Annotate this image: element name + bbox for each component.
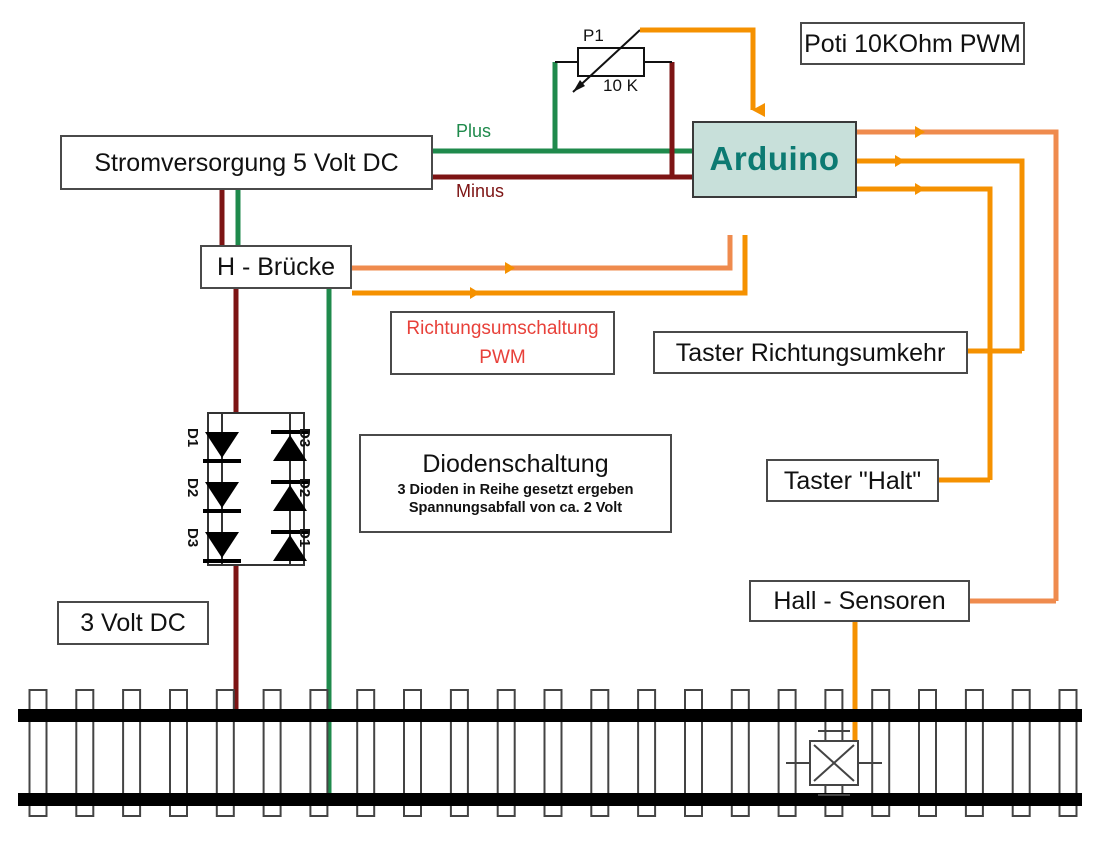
button-reverse-box[interactable]: Taster Richtungsumkehr [653,331,968,374]
diode-label-right-1: D3 [296,428,313,447]
button-reverse-label: Taster Richtungsumkehr [676,339,946,367]
button-halt-box[interactable]: Taster "Halt" [766,459,939,502]
diode-label-right-3: D1 [296,528,313,547]
rail-lower [18,793,1082,806]
power-supply-label: Stromversorgung 5 Volt DC [94,149,398,177]
diode-label-left-1: D1 [184,428,201,447]
h-bridge-box[interactable]: H - Brücke [200,245,352,289]
potentiometer-designator-label: P1 [583,26,604,46]
poti-note-box: Poti 10KOhm PWM [800,22,1025,65]
diode-note-line1: 3 Dioden in Reihe gesetzt ergeben [397,481,633,499]
diode-note-box: Diodenschaltung 3 Dioden in Reihe gesetz… [359,434,672,533]
button-sensor-stubs [855,351,1056,745]
power-supply-box[interactable]: Stromversorgung 5 Volt DC [60,135,433,190]
hall-sensors-box[interactable]: Hall - Sensoren [749,580,970,622]
poti-note-label: Poti 10KOhm PWM [804,30,1021,58]
plus-wire-label: Plus [456,121,491,142]
diode-label-right-2: D2 [296,478,313,497]
track-voltage-label: 3 Volt DC [80,609,186,637]
direction-note-line2: PWM [479,343,525,372]
railway-track [18,690,1082,816]
diagram-canvas: Stromversorgung 5 Volt DC H - Brücke Ard… [0,0,1100,843]
diode-note-title: Diodenschaltung [422,450,608,478]
button-halt-label: Taster "Halt" [784,467,921,495]
h-bridge-label: H - Brücke [217,253,335,281]
minus-wire-label: Minus [456,181,504,202]
track-voltage-box: 3 Volt DC [57,601,209,645]
diode-note-line2: Spannungsabfall von ca. 2 Volt [409,499,622,517]
rail-upper [18,709,1082,722]
poti-signal-wire [640,30,753,110]
hall-sensors-label: Hall - Sensoren [773,587,945,615]
track-hall-sensor [786,731,882,795]
potentiometer-value-label: 10 K [603,76,638,96]
arduino-label: Arduino [710,141,840,178]
diode-block [203,413,309,565]
direction-note-line1: Richtungsumschaltung [406,314,598,343]
diode-label-left-2: D2 [184,478,201,497]
arduino-box[interactable]: Arduino [692,121,857,198]
h-bridge-control-wires [352,235,745,293]
diode-label-left-3: D3 [184,528,201,547]
wiring-layer [0,0,1100,843]
direction-note-box: Richtungsumschaltung PWM [390,311,615,375]
